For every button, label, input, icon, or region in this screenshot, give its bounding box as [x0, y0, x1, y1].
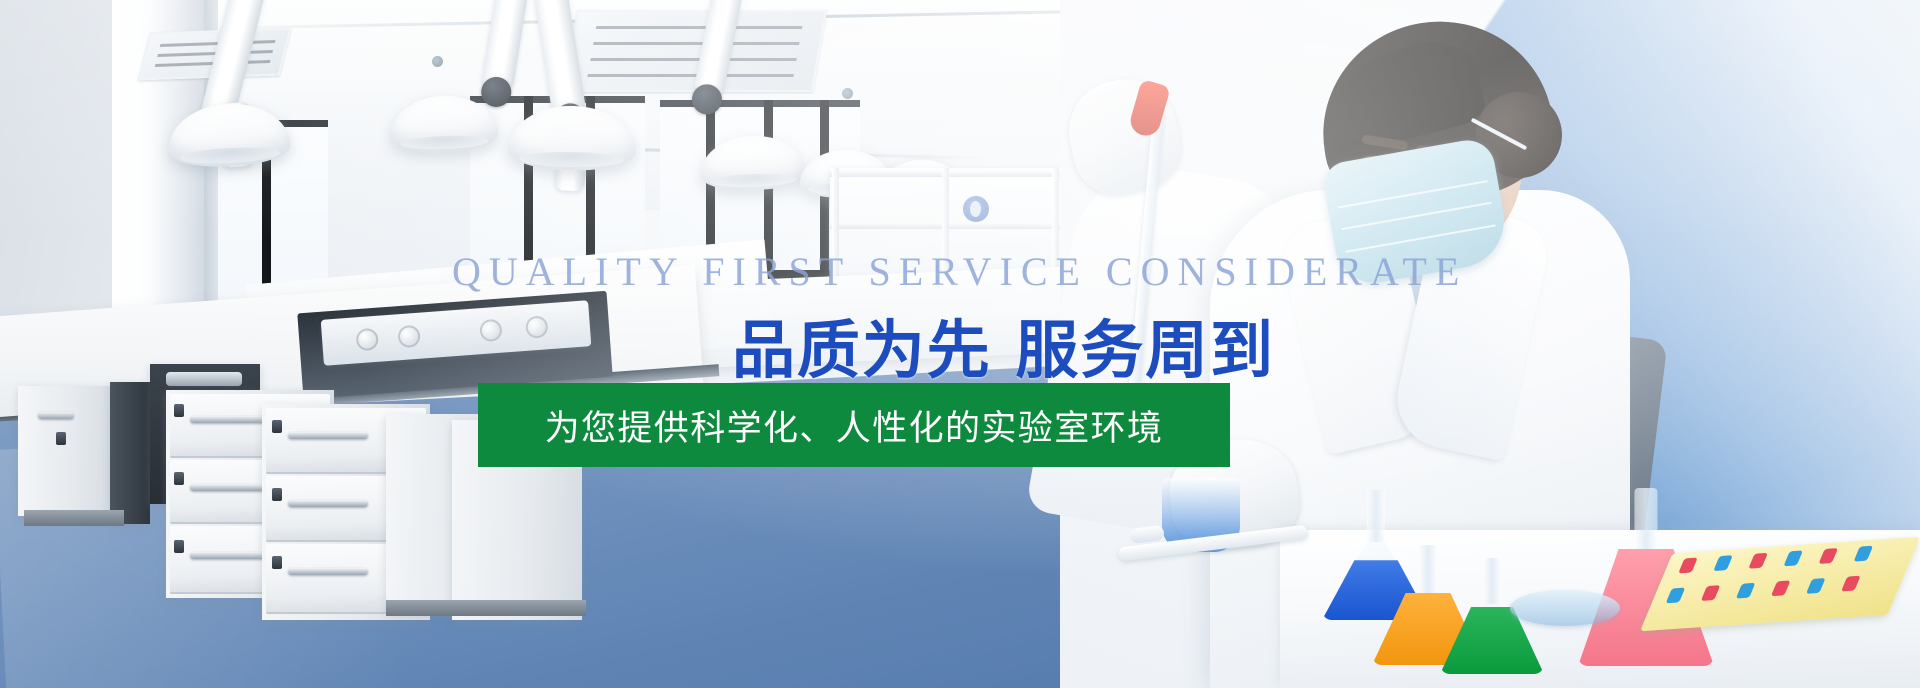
banner-eyebrow-english: QUALITY FIRST SERVICE CONSIDERATE — [452, 248, 1467, 295]
hero-banner: QUALITY FIRST SERVICE CONSIDERATE 品质为先 服… — [0, 0, 1920, 688]
banner-headline: 品质为先 服务周到 — [732, 300, 1275, 391]
banner-subtitle-bar: 为您提供科学化、人性化的实验室环境 — [478, 383, 1230, 467]
banner-subtitle-text: 为您提供科学化、人性化的实验室环境 — [545, 400, 1164, 451]
banner-copy: QUALITY FIRST SERVICE CONSIDERATE 品质为先 服… — [0, 0, 1920, 688]
